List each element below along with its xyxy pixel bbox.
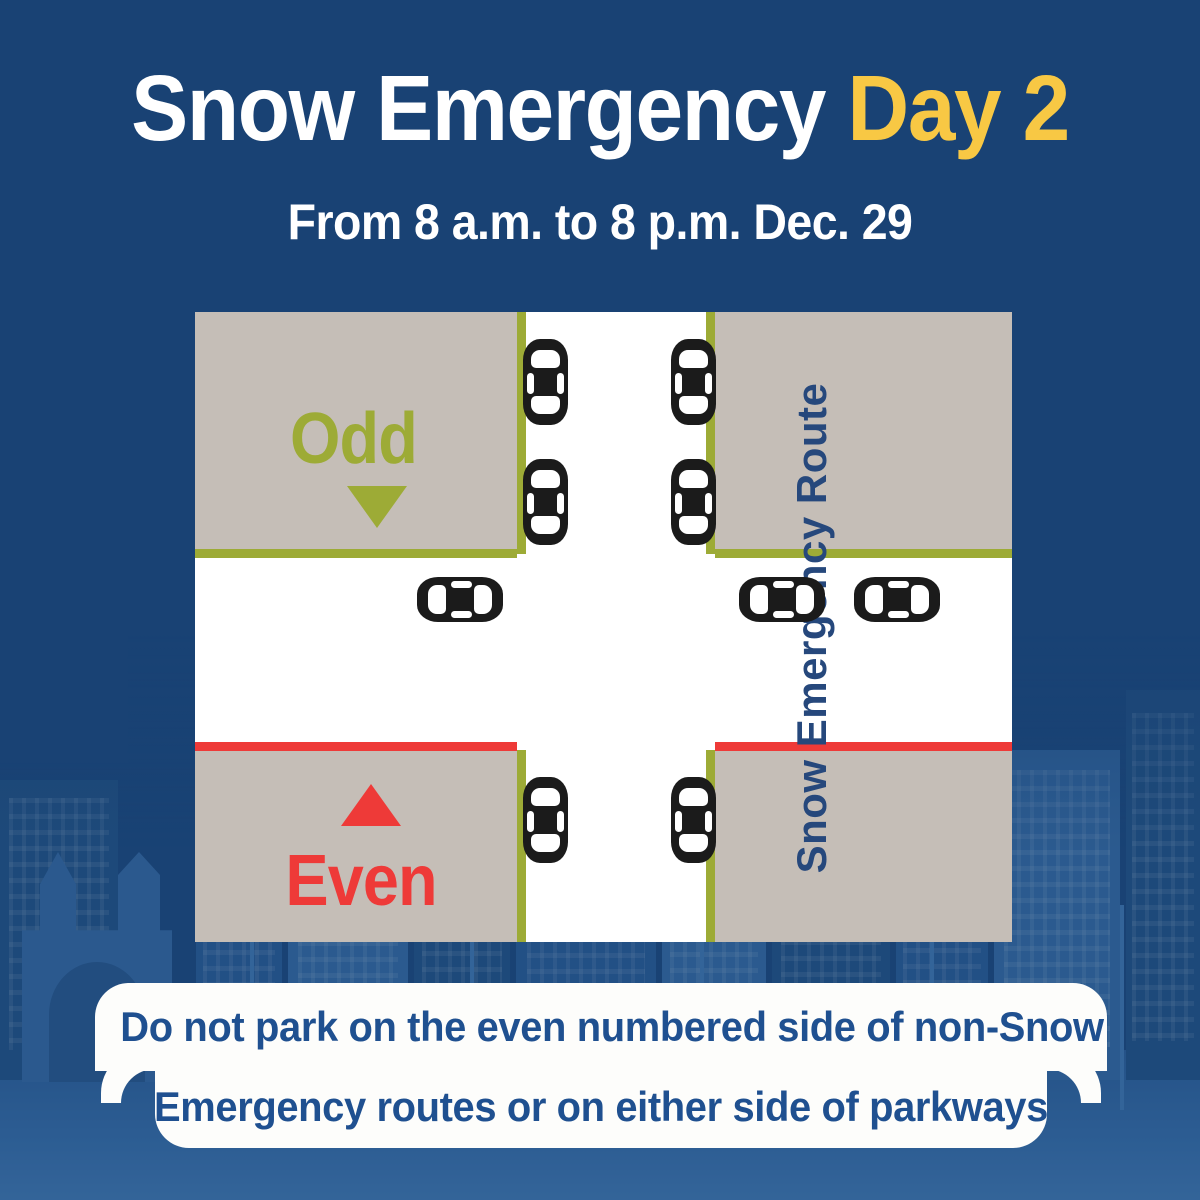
headline-accent: Day 2 <box>847 56 1068 160</box>
block-top-right <box>715 312 1012 552</box>
subtitle-timeframe: From 8 a.m. to 8 p.m. Dec. 29 <box>42 193 1158 251</box>
parked-car-route-right-bottom <box>671 777 716 863</box>
page-title: Snow Emergency Day 2 <box>48 60 1152 157</box>
even-side-label: Even <box>285 840 436 922</box>
parked-car-route-right-top <box>671 339 716 425</box>
parked-car-cross-west <box>417 577 503 622</box>
parked-car-cross-east-inner <box>739 577 825 622</box>
street-intersection-diagram: Odd Even Snow Emergency Route <box>195 312 1012 942</box>
odd-side-label: Odd <box>290 398 417 480</box>
even-side-no-park-left <box>195 742 517 751</box>
building <box>1126 690 1200 1080</box>
parked-car-cross-east-outer <box>854 577 940 622</box>
snow-emergency-route-label: Snow Emergency Route <box>784 0 840 318</box>
headline-main: Snow Emergency <box>131 56 847 160</box>
parked-car-route-left-second <box>523 459 568 545</box>
even-side-no-park-right <box>715 742 1012 751</box>
odd-side-curb-top-left <box>195 549 517 558</box>
lamp-post <box>1120 905 1124 1110</box>
even-side-arrow-up-icon <box>341 784 401 826</box>
parked-car-route-left-bottom <box>523 777 568 863</box>
block-bottom-right <box>715 750 1012 942</box>
snow-emergency-poster: Snow Emergency Day 2 From 8 a.m. to 8 p.… <box>0 0 1200 1200</box>
parked-car-route-left-top <box>523 339 568 425</box>
parked-car-route-right-second <box>671 459 716 545</box>
odd-side-curb-top-right <box>715 549 1012 558</box>
odd-side-arrow-down-icon <box>347 486 407 528</box>
notice-line-1: Do not park on the even numbered side of… <box>120 1003 1081 1051</box>
snow-emergency-route-text: Snow Emergency Route <box>788 383 836 874</box>
notice-line-2: Emergency routes or on either side of pa… <box>120 1083 1081 1131</box>
notice-banner: Do not park on the even numbered side of… <box>95 983 1107 1148</box>
